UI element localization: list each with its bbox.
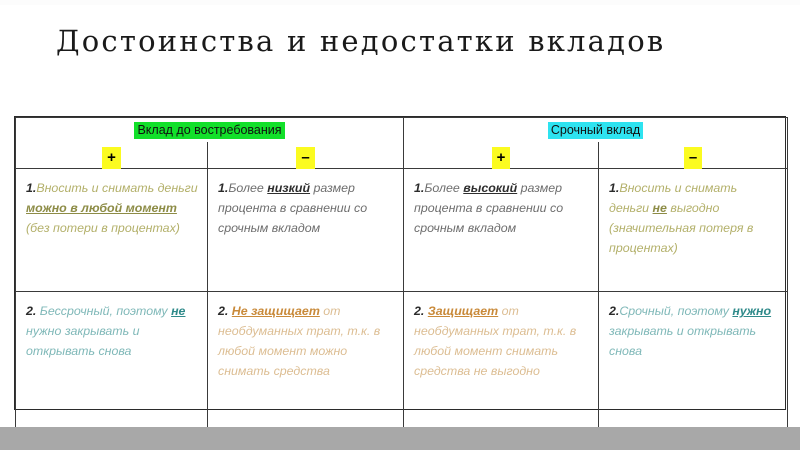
page-title: Достоинства и недостатки вкладов [56, 22, 756, 61]
minus-sign-badge-1: – [296, 147, 314, 169]
cell-r2c3: 2. Защищает от необдуманных трат, т.к. в… [404, 292, 599, 445]
bottom-letterbox-bar [0, 427, 800, 450]
comparison-table: Вклад до востребования Срочный вклад + –… [14, 116, 786, 410]
header-label-term-deposit: Срочный вклад [548, 122, 643, 139]
item-number: 1. [609, 181, 619, 195]
emphasized-text: не [171, 304, 185, 318]
table-header-sign-row: + – + – [16, 142, 788, 169]
plain-text: Срочный, поэтому [619, 304, 732, 318]
table-grid: Вклад до востребования Срочный вклад + –… [15, 117, 788, 445]
cell-text: 1.Вносить и снимать деньги не выгодно (з… [609, 178, 778, 258]
plain-text: Более [228, 181, 267, 195]
plain-text: Вносить и снимать деньги [36, 181, 197, 195]
item-number: 2. [609, 304, 619, 318]
minus-sign-badge-2: – [684, 147, 702, 169]
header-cell-term-deposit: Срочный вклад [404, 118, 788, 143]
slide-canvas: Достоинства и недостатки вкладов Вклад д… [0, 0, 800, 450]
cell-text: 1.Более низкий размер процента в сравнен… [218, 178, 394, 238]
header-cell-sign-4: – [599, 142, 788, 169]
cell-r1c4: 1.Вносить и снимать деньги не выгодно (з… [599, 169, 788, 292]
cell-text: 2. Не защищает от необдуманных трат, т.к… [218, 301, 394, 381]
cell-r1c3: 1.Более высокий размер процента в сравне… [404, 169, 599, 292]
item-number: 1. [26, 181, 36, 195]
emphasized-text: нужно [732, 304, 771, 318]
table-row: 2. Бессрочный, поэтому не нужно закрыват… [16, 292, 788, 445]
table-header-deposit-row: Вклад до востребования Срочный вклад [16, 118, 788, 143]
plus-sign-badge-2: + [492, 147, 511, 169]
cell-text: 2.Срочный, поэтому нужно закрывать и отк… [609, 301, 778, 361]
cell-r1c1: 1.Вносить и снимать деньги можно в любой… [16, 169, 208, 292]
item-number: 1. [414, 181, 424, 195]
emphasized-text: можно в любой момент [26, 201, 177, 215]
plain-text: нужно закрывать и открывать снова [26, 324, 139, 358]
cell-r2c4: 2.Срочный, поэтому нужно закрывать и отк… [599, 292, 788, 445]
item-number: 2. [26, 304, 36, 318]
cell-r2c1: 2. Бессрочный, поэтому не нужно закрыват… [16, 292, 208, 445]
header-cell-sign-2: – [208, 142, 404, 169]
header-label-demand-deposit: Вклад до востребования [134, 122, 284, 139]
emphasized-text: низкий [267, 181, 310, 195]
emphasized-text: Защищает [428, 304, 498, 318]
header-cell-sign-1: + [16, 142, 208, 169]
plain-text: Бессрочный, поэтому [36, 304, 171, 318]
table-row: 1.Вносить и снимать деньги можно в любой… [16, 169, 788, 292]
header-cell-sign-3: + [404, 142, 599, 169]
emphasized-text: высокий [463, 181, 517, 195]
cell-r2c2: 2. Не защищает от необдуманных трат, т.к… [208, 292, 404, 445]
plain-text: Более [424, 181, 463, 195]
emphasized-text: Не защищает [232, 304, 320, 318]
item-number: 2. [414, 304, 424, 318]
cell-text: 1.Вносить и снимать деньги можно в любой… [26, 178, 198, 238]
cell-r1c2: 1.Более низкий размер процента в сравнен… [208, 169, 404, 292]
header-cell-demand-deposit: Вклад до востребования [16, 118, 404, 143]
cell-text: 2. Бессрочный, поэтому не нужно закрыват… [26, 301, 198, 361]
item-number: 1. [218, 181, 228, 195]
cell-text: 1.Более высокий размер процента в сравне… [414, 178, 589, 238]
top-edge-tint [0, 0, 800, 5]
plain-text: закрывать и открывать снова [609, 324, 756, 358]
item-number: 2. [218, 304, 228, 318]
plain-text: (без потери в процентах) [26, 221, 180, 235]
cell-text: 2. Защищает от необдуманных трат, т.к. в… [414, 301, 589, 381]
emphasized-text: не [653, 201, 667, 215]
plus-sign-badge-1: + [102, 147, 121, 169]
